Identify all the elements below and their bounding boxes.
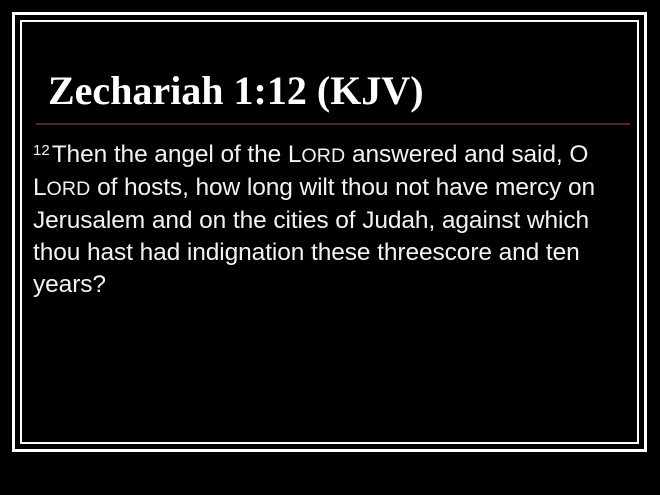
verse-segment-3: of hosts, how long wilt thou not have me… — [33, 174, 595, 298]
divine-name-lead-1: L — [288, 141, 302, 168]
verse-number: 12 — [33, 142, 52, 159]
divine-name-lead-2: L — [33, 174, 47, 201]
verse-segment-1: Then the angel of the — [52, 141, 288, 168]
presentation-slide: Zechariah 1:12 (KJV) 12Then the angel of… — [0, 0, 660, 495]
title-divider-rule — [36, 123, 630, 125]
verse-segment-2: answered and said, O — [345, 141, 588, 168]
slide-title: Zechariah 1:12 (KJV) — [48, 69, 424, 113]
divine-name-rest-1: ORD — [301, 145, 345, 167]
divine-name-rest-2: ORD — [47, 178, 91, 200]
slide-content-area: Zechariah 1:12 (KJV) 12Then the angel of… — [22, 22, 637, 442]
scripture-body-text: 12Then the angel of the LORD answered an… — [33, 135, 633, 301]
